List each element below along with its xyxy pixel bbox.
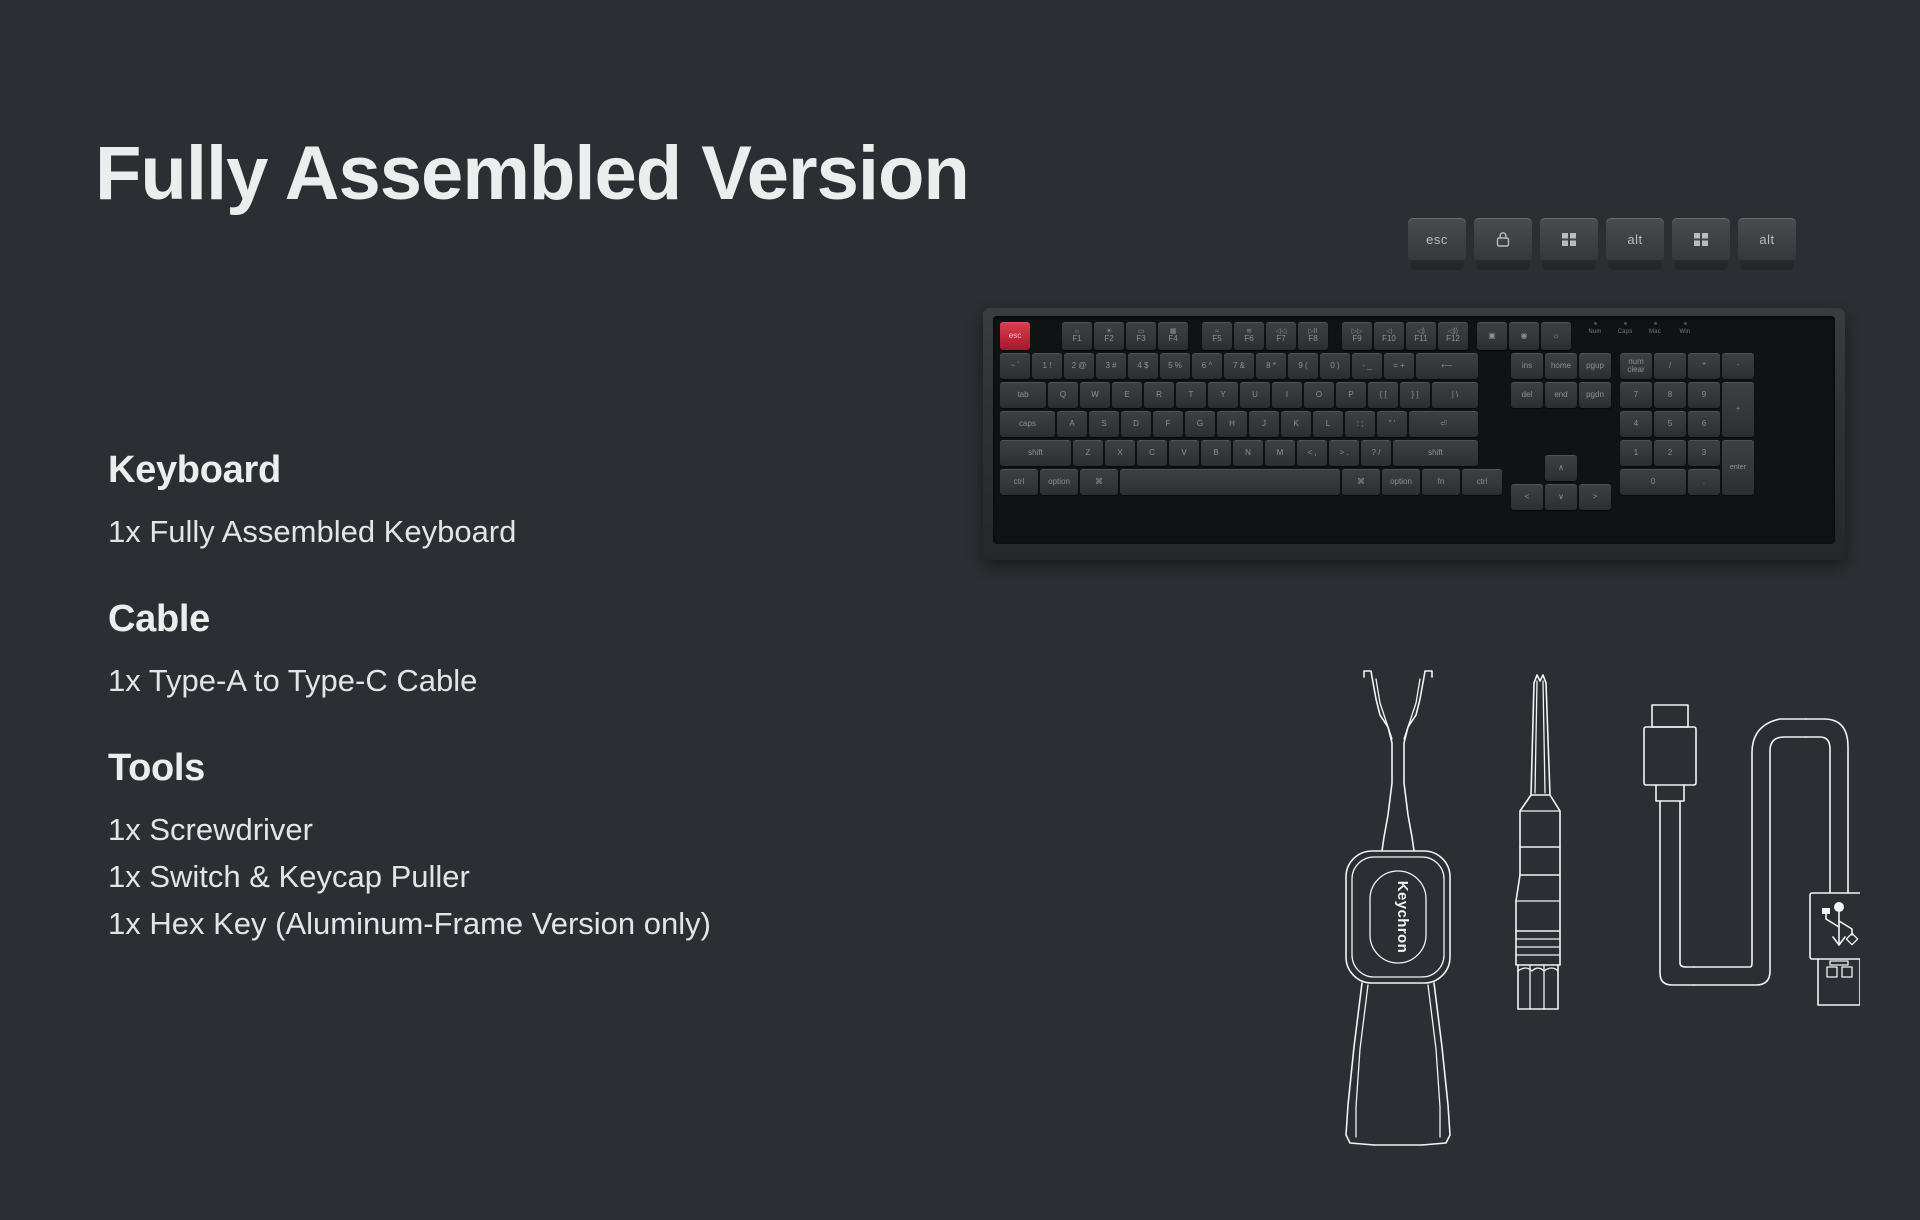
keycap-windows-1 bbox=[1540, 218, 1598, 270]
spec-group-cable: Cable 1x Type-A to Type-C Cable bbox=[108, 599, 928, 704]
keyboard-key: 3 # bbox=[1096, 353, 1126, 379]
keyboard-key bbox=[1032, 322, 1060, 350]
keyboard-key: I bbox=[1272, 382, 1302, 408]
keyboard-key: del bbox=[1511, 382, 1543, 408]
keyboard-key: 9 bbox=[1688, 382, 1720, 408]
keyboard-key: 9 ( bbox=[1288, 353, 1318, 379]
keyboard-key: L bbox=[1313, 411, 1343, 437]
led-dot-icon bbox=[1594, 322, 1597, 325]
keyboard-key: F bbox=[1153, 411, 1183, 437]
keyboard-key: 4 $ bbox=[1128, 353, 1158, 379]
led-dot-icon bbox=[1654, 322, 1657, 325]
keyboard-key: * bbox=[1688, 353, 1720, 379]
keyboard-key: Q bbox=[1048, 382, 1078, 408]
keyboard-key: ⌘ bbox=[1080, 469, 1118, 495]
keyboard-key: 1 ! bbox=[1032, 353, 1062, 379]
keyboard-key: ? / bbox=[1361, 440, 1391, 466]
keyboard-key: = + bbox=[1384, 353, 1414, 379]
keyboard-key: 4 bbox=[1620, 411, 1652, 437]
keyboard-key: X bbox=[1105, 440, 1135, 466]
spec-group-tools: Tools 1x Screwdriver 1x Switch & Keycap … bbox=[108, 748, 928, 947]
keyboard-key: M bbox=[1265, 440, 1295, 466]
keyboard-row-numpad-0: num clear/* bbox=[1620, 353, 1722, 382]
screwdriver-art bbox=[1516, 675, 1560, 1009]
keyboard-row-numpad-3: 123 bbox=[1620, 440, 1722, 469]
keyboard-key: ins bbox=[1511, 353, 1543, 379]
keyboard-image: esc☼F1☀F2▭F3▦F4≈F5≋F6◁◁F7▷IIF8▷▷F9◁F10◁)… bbox=[983, 308, 1845, 560]
keyboard-key: / bbox=[1654, 353, 1686, 379]
keyboard-key: shift bbox=[1393, 440, 1478, 466]
keyboard-key: 5 % bbox=[1160, 353, 1190, 379]
keyboard-key: ▷▷F9 bbox=[1342, 322, 1372, 350]
tools-illustration: Keychron bbox=[1340, 665, 1860, 1175]
keyboard-key: A bbox=[1057, 411, 1087, 437]
keyboard-key: S bbox=[1089, 411, 1119, 437]
windows-icon bbox=[1561, 232, 1577, 247]
keyboard-row-nav-bottom: delendpgdn bbox=[1511, 382, 1613, 411]
keyboard-key: ⟵ bbox=[1416, 353, 1478, 379]
keyboard-key: P bbox=[1336, 382, 1366, 408]
keyboard-led-win: Win bbox=[1670, 322, 1700, 335]
led-dot-icon bbox=[1684, 322, 1687, 325]
keyboard-row-number: ~ `1 !2 @3 #4 $5 %6 ^7 &8 *9 (0 )- _= +⟵ bbox=[1000, 353, 1504, 382]
keyboard-led-mac: Mac bbox=[1640, 322, 1670, 335]
keycap-top: alt bbox=[1738, 218, 1796, 260]
keyboard-numpad-right-column: -+enter bbox=[1722, 353, 1756, 498]
spec-item-tools-0: 1x Screwdriver bbox=[108, 806, 928, 853]
keyboard-key bbox=[1190, 322, 1200, 350]
spec-heading-keyboard: Keyboard bbox=[108, 450, 928, 492]
keyboard-key: 2 bbox=[1654, 440, 1686, 466]
keyboard-key: 8 * bbox=[1256, 353, 1286, 379]
keyboard-key bbox=[1511, 455, 1543, 481]
keyboard-key: ≋F6 bbox=[1234, 322, 1264, 350]
keyboard-key: esc bbox=[1000, 322, 1030, 350]
keyboard-key bbox=[1120, 469, 1340, 495]
keycap-alt-2: alt bbox=[1738, 218, 1796, 270]
keyboard-key: K bbox=[1281, 411, 1311, 437]
keyboard-numpad-block: num clear/* 789 456 123 0. -+enter bbox=[1620, 353, 1756, 513]
keycap-alt-1: alt bbox=[1606, 218, 1664, 270]
keyboard-key: ∧ bbox=[1545, 455, 1577, 481]
keyboard-row-arrows: <∨> bbox=[1511, 484, 1613, 513]
keyboard-key: 0 bbox=[1620, 469, 1686, 495]
keyboard-key: 1 bbox=[1620, 440, 1652, 466]
keyboard-key: - _ bbox=[1352, 353, 1382, 379]
keyboard-key: 7 & bbox=[1224, 353, 1254, 379]
keyboard-key: 7 bbox=[1620, 382, 1652, 408]
keyboard-key: 0 ) bbox=[1320, 353, 1350, 379]
keyboard-main-block: ~ `1 !2 @3 #4 $5 %6 ^7 &8 *9 (0 )- _= +⟵… bbox=[1000, 353, 1504, 513]
led-label: Win bbox=[1680, 329, 1691, 335]
led-label: Mac bbox=[1649, 329, 1661, 335]
spec-item-tools-2: 1x Hex Key (Aluminum-Frame Version only) bbox=[108, 900, 928, 947]
keyboard-key: V bbox=[1169, 440, 1199, 466]
keyboard-row-numpad-2: 456 bbox=[1620, 411, 1722, 440]
spec-item-cable-0: 1x Type-A to Type-C Cable bbox=[108, 657, 928, 704]
keyboard-key: < , bbox=[1297, 440, 1327, 466]
keyboard-led-num: Num bbox=[1580, 322, 1610, 335]
lock-icon bbox=[1496, 231, 1510, 247]
keyboard-key: W bbox=[1080, 382, 1110, 408]
keyboard-key: < bbox=[1511, 484, 1543, 510]
keycap-top: esc bbox=[1408, 218, 1466, 260]
keyboard-row-bottom: ctrloption⌘⌘optionfnctrl bbox=[1000, 469, 1504, 498]
keyboard-key: ctrl bbox=[1000, 469, 1038, 495]
keycap-lock bbox=[1474, 218, 1532, 270]
keyboard-key: Z bbox=[1073, 440, 1103, 466]
keyboard-key: 5 bbox=[1654, 411, 1686, 437]
keyboard-key: ⏎ bbox=[1409, 411, 1478, 437]
keyboard-key: 3 bbox=[1688, 440, 1720, 466]
keyboard-key: T bbox=[1176, 382, 1206, 408]
keyboard-key: J bbox=[1249, 411, 1279, 437]
keycap-label: esc bbox=[1426, 232, 1448, 247]
keyboard-plate: esc☼F1☀F2▭F3▦F4≈F5≋F6◁◁F7▷IIF8▷▷F9◁F10◁)… bbox=[993, 316, 1835, 544]
keyboard-key: end bbox=[1545, 382, 1577, 408]
keyboard-key: | \ bbox=[1432, 382, 1478, 408]
keyboard-key: > . bbox=[1329, 440, 1359, 466]
keyboard-key: ~ ` bbox=[1000, 353, 1030, 379]
keycap-label: alt bbox=[1627, 232, 1642, 247]
keyboard-key: ▣ bbox=[1477, 322, 1507, 350]
keyboard-key: ≈F5 bbox=[1202, 322, 1232, 350]
keycap-esc: esc bbox=[1408, 218, 1466, 270]
keycap-top bbox=[1672, 218, 1730, 260]
keyboard-row-nav-top: inshomepgup bbox=[1511, 353, 1613, 382]
puller-brand-label: Keychron bbox=[1394, 881, 1411, 953]
keyboard-key: G bbox=[1185, 411, 1215, 437]
keyboard-row-arrow-up: ∧ bbox=[1511, 455, 1613, 484]
keyboard-row-utility: ▣◉☼ bbox=[1477, 322, 1573, 353]
keyboard-row-numpad-4: 0. bbox=[1620, 469, 1722, 498]
keyboard-key: option bbox=[1040, 469, 1078, 495]
spec-item-keyboard-0: 1x Fully Assembled Keyboard bbox=[108, 508, 928, 555]
keyboard-key: enter bbox=[1722, 440, 1754, 495]
led-dot-icon bbox=[1624, 322, 1627, 325]
keyboard-key: tab bbox=[1000, 382, 1046, 408]
spec-heading-cable: Cable bbox=[108, 599, 928, 641]
keyboard-key: shift bbox=[1000, 440, 1071, 466]
keycap-top bbox=[1540, 218, 1598, 260]
switch-keycap-puller-art: Keychron bbox=[1346, 671, 1450, 1145]
keyboard-row-function: esc☼F1☀F2▭F3▦F4≈F5≋F6◁◁F7▷IIF8▷▷F9◁F10◁)… bbox=[1000, 322, 1470, 353]
keyboard-key: ⌘ bbox=[1342, 469, 1380, 495]
keyboard-key: { [ bbox=[1368, 382, 1398, 408]
keyboard-key: D bbox=[1121, 411, 1151, 437]
windows-icon bbox=[1693, 232, 1709, 247]
keyboard-row-qwerty: tabQWERTYUIOP{ [} ]| \ bbox=[1000, 382, 1504, 411]
keyboard-key: ctrl bbox=[1462, 469, 1502, 495]
keyboard-key: } ] bbox=[1400, 382, 1430, 408]
spec-item-tools-1: 1x Switch & Keycap Puller bbox=[108, 853, 928, 900]
keyboard-key: E bbox=[1112, 382, 1142, 408]
keyboard-key: pgdn bbox=[1579, 382, 1611, 408]
keyboard-key: ☀F2 bbox=[1094, 322, 1124, 350]
keyboard-key: : ; bbox=[1345, 411, 1375, 437]
keyboard-key: ◁)F11 bbox=[1406, 322, 1436, 350]
keyboard-key: - bbox=[1722, 353, 1754, 379]
keyboard-key: > bbox=[1579, 484, 1611, 510]
keyboard-key: 6 bbox=[1688, 411, 1720, 437]
keyboard-key: fn bbox=[1422, 469, 1460, 495]
keyboard-key: num clear bbox=[1620, 353, 1652, 379]
keyboard-key: home bbox=[1545, 353, 1577, 379]
keyboard-key: B bbox=[1201, 440, 1231, 466]
page-title: Fully Assembled Version bbox=[95, 136, 969, 212]
keyboard-key: 2 @ bbox=[1064, 353, 1094, 379]
spec-group-keyboard: Keyboard 1x Fully Assembled Keyboard bbox=[108, 450, 928, 555]
extra-keycaps-row: esc bbox=[1408, 218, 1796, 270]
keyboard-key: + bbox=[1722, 382, 1754, 437]
keyboard-key: pgup bbox=[1579, 353, 1611, 379]
keycap-top bbox=[1474, 218, 1532, 260]
keyboard-key: U bbox=[1240, 382, 1270, 408]
usb-cable-art bbox=[1644, 705, 1860, 1005]
keyboard-key: ◁◁F7 bbox=[1266, 322, 1296, 350]
keyboard-function-strip: esc☼F1☀F2▭F3▦F4≈F5≋F6◁◁F7▷IIF8▷▷F9◁F10◁)… bbox=[1000, 322, 1828, 353]
keyboard-key: C bbox=[1137, 440, 1167, 466]
keyboard-row-shift: shiftZXCVBNM< ,> .? /shift bbox=[1000, 440, 1504, 469]
tools-line-art: Keychron bbox=[1340, 665, 1860, 1175]
keyboard-key: ☼F1 bbox=[1062, 322, 1092, 350]
keyboard-key: " ' bbox=[1377, 411, 1407, 437]
keyboard-key: Y bbox=[1208, 382, 1238, 408]
keycap-windows-2 bbox=[1672, 218, 1730, 270]
slide-root: Fully Assembled Version Keyboard 1x Full… bbox=[0, 0, 1920, 1220]
keyboard-key: ☼ bbox=[1541, 322, 1571, 350]
keyboard-indicator-leds: NumCapsMacWin bbox=[1580, 322, 1700, 335]
keyboard-key: 6 ^ bbox=[1192, 353, 1222, 379]
keyboard-key: R bbox=[1144, 382, 1174, 408]
keyboard-row-home: capsASDFGHJKL: ;" '⏎ bbox=[1000, 411, 1504, 440]
keyboard-key: option bbox=[1382, 469, 1420, 495]
keycap-top: alt bbox=[1606, 218, 1664, 260]
keyboard-row-numpad-1: 789 bbox=[1620, 382, 1722, 411]
keyboard-led-caps: Caps bbox=[1610, 322, 1640, 335]
keyboard-key: 8 bbox=[1654, 382, 1686, 408]
keyboard-key: ▭F3 bbox=[1126, 322, 1156, 350]
keyboard-key: O bbox=[1304, 382, 1334, 408]
led-label: Caps bbox=[1618, 329, 1633, 335]
keyboard-key: ▷IIF8 bbox=[1298, 322, 1328, 350]
keyboard-key bbox=[1330, 322, 1340, 350]
keyboard-key: ∨ bbox=[1545, 484, 1577, 510]
led-label: Num bbox=[1588, 329, 1601, 335]
keyboard-key: ◉ bbox=[1509, 322, 1539, 350]
keyboard-key: caps bbox=[1000, 411, 1055, 437]
usb-icon bbox=[1822, 902, 1858, 945]
keyboard-nav-block: inshomepgup delendpgdn ∧ <∨> bbox=[1511, 353, 1613, 513]
keyboard-key: . bbox=[1688, 469, 1720, 495]
spec-heading-tools: Tools bbox=[108, 748, 928, 790]
keyboard-key: ◁F10 bbox=[1374, 322, 1404, 350]
keyboard-key: H bbox=[1217, 411, 1247, 437]
keyboard-key: ◁))F12 bbox=[1438, 322, 1468, 350]
contents-list: Keyboard 1x Fully Assembled Keyboard Cab… bbox=[108, 450, 928, 947]
keyboard-key: N bbox=[1233, 440, 1263, 466]
keyboard-key: ▦F4 bbox=[1158, 322, 1188, 350]
keycap-label: alt bbox=[1759, 232, 1774, 247]
